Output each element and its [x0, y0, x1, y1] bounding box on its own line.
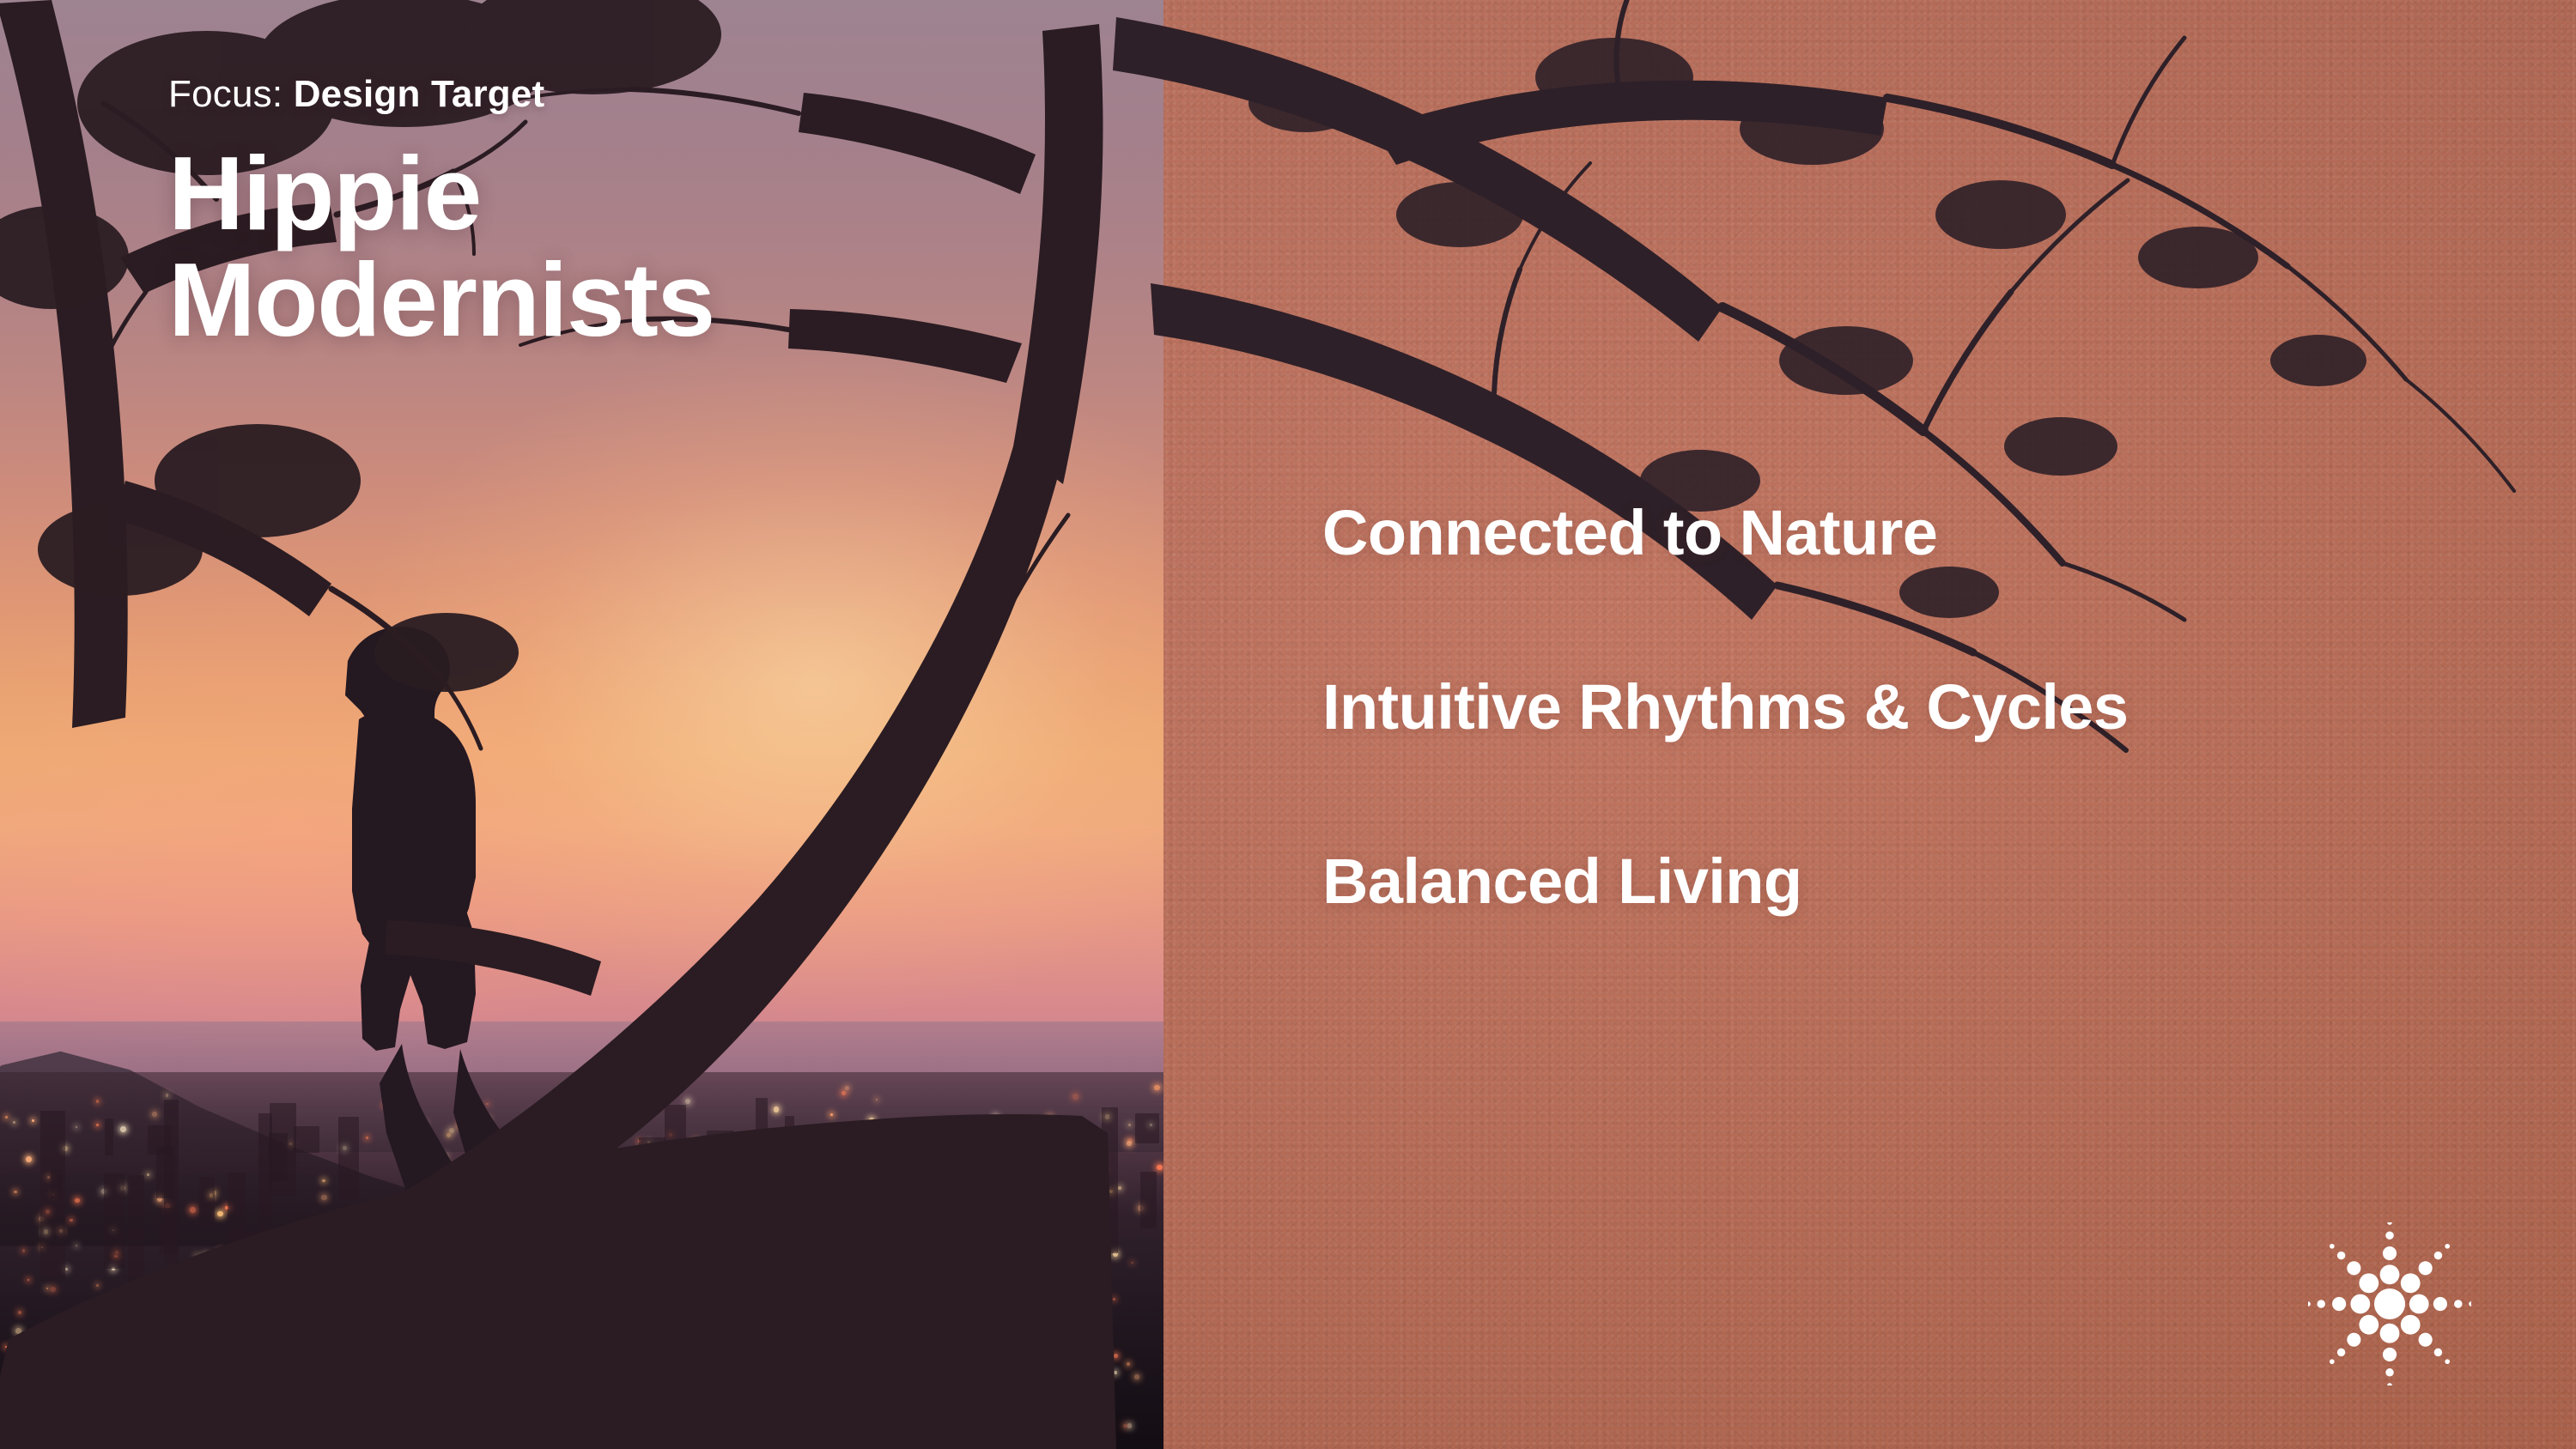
- title-line-2: Modernists: [168, 246, 1027, 353]
- title-line-1: Hippie: [168, 140, 1027, 246]
- sunburst-dots-logo-icon: [2308, 1222, 2471, 1385]
- title-block: Focus: Design Target Hippie Modernists: [168, 72, 1027, 354]
- eyebrow-emphasis: Design Target: [294, 73, 545, 115]
- eyebrow-prefix: Focus:: [168, 73, 283, 115]
- attribute-list: Connected to Nature Intuitive Rhythms & …: [1322, 498, 2439, 918]
- list-item: Balanced Living: [1322, 846, 2439, 918]
- page-title: Hippie Modernists: [168, 140, 1027, 354]
- list-item: Intuitive Rhythms & Cycles: [1322, 672, 2439, 743]
- eyebrow-label: Focus: Design Target: [168, 72, 1027, 118]
- list-item: Connected to Nature: [1322, 498, 2439, 569]
- presentation-slide: Focus: Design Target Hippie Modernists C…: [0, 0, 2576, 1449]
